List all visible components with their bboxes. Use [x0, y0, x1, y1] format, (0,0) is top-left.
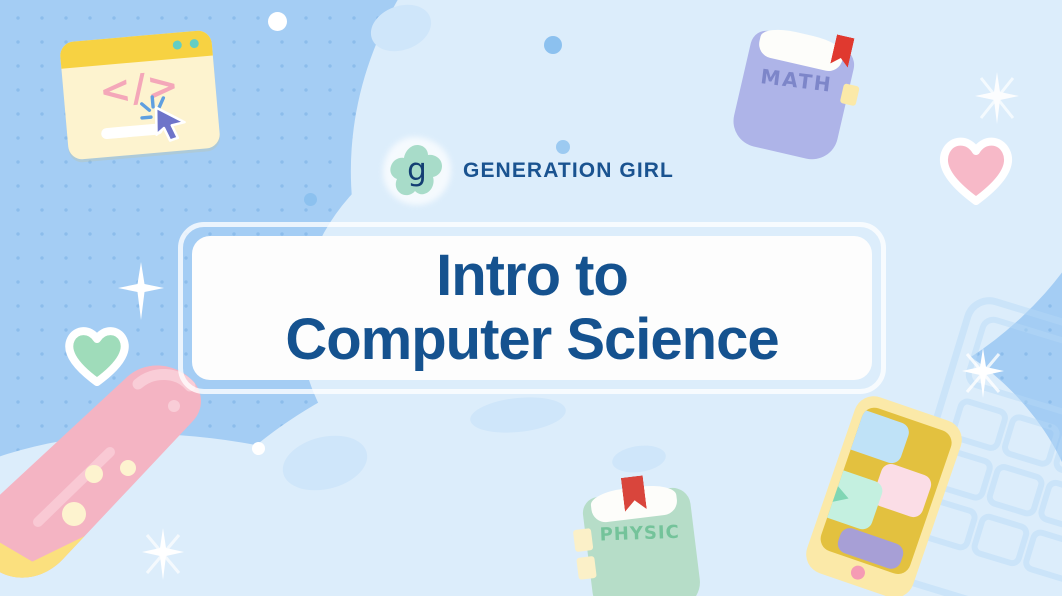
code-window-illustration: </>	[59, 30, 221, 161]
logo-letter-g: g	[388, 142, 446, 200]
sparkle-icon-top-right	[975, 72, 1019, 124]
sparkle-icon-left	[118, 262, 164, 320]
sparkle-icon-right	[962, 348, 1004, 398]
brand-lockup: g GENERATION GIRL	[0, 142, 1062, 200]
title-card: Intro to Computer Science	[192, 236, 872, 380]
brand-name: GENERATION GIRL	[463, 159, 674, 183]
background-dot-white-2	[252, 442, 265, 455]
background-dot-white-1	[268, 12, 287, 31]
title-card-frame: Intro to Computer Science	[178, 222, 886, 394]
generation-girl-logo-icon: g	[388, 142, 446, 200]
title-line-1: Intro to	[436, 247, 628, 305]
physics-book-tab-2	[576, 556, 597, 580]
physics-book-label: PHYSIC	[585, 521, 694, 546]
flask-illustration	[0, 362, 248, 596]
slide-canvas: </> MATH	[0, 0, 1062, 596]
background-dot-blue-2	[544, 36, 562, 54]
physics-book-illustration: PHYSIC	[581, 486, 703, 596]
title-line-2: Computer Science	[285, 311, 778, 369]
